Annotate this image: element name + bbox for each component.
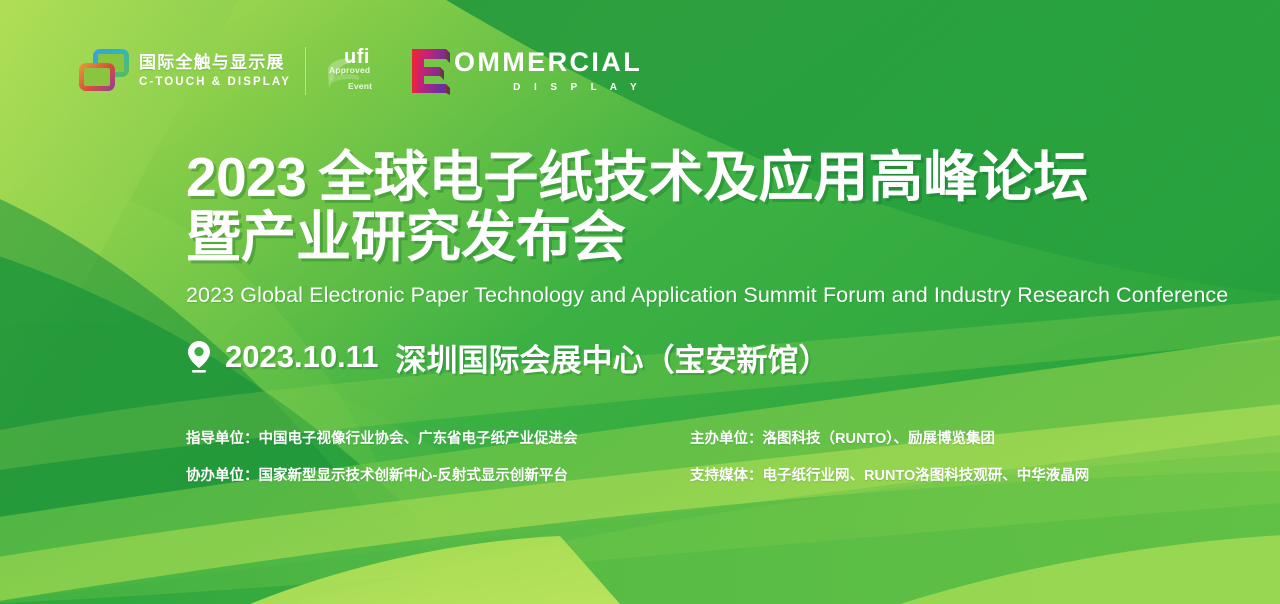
logo-bar: 国际全触与显示展 C-TOUCH & DISPLAY ufi Approved … [78,42,642,100]
ufi-brand-text: ufi [344,47,370,67]
commercial-display-sub-text: D I S P L A Y [456,83,642,93]
ufi-event-text: Event [348,82,372,91]
event-venue: 深圳国际会展中心（宝安新馆） [395,335,829,380]
partner-guidance-unit: 指导单位：中国电子视像行业协会、广东省电子纸产业促进会 [186,432,690,447]
subtitle-english: 2023 Global Electronic Paper Technology … [186,283,1206,308]
c-touch-english-name: C-TOUCH & DISPLAY [139,77,291,89]
date-venue-bar: 2023.10.11 深圳国际会展中心（宝安新馆） [186,335,1206,380]
logo-divider [305,47,306,95]
location-pin-icon [186,340,212,374]
partner-organizer-unit: 主办单位：洛图科技（RUNTO）、励展博览集团 [690,432,1089,447]
partners-right-column: 主办单位：洛图科技（RUNTO）、励展博览集团 支持媒体：电子纸行业网、RUNT… [690,432,1089,483]
ufi-approved-text: Approved [329,66,370,75]
partner-supporting-media: 支持媒体：电子纸行业网、RUNTO洛图科技观研、中华液晶网 [690,469,1089,484]
event-date: 2023.10.11 [225,339,378,375]
title-line-1: 2023全球电子纸技术及应用高峰论坛 [186,148,1206,208]
title-block: 2023全球电子纸技术及应用高峰论坛 暨产业研究发布会 2023 Global … [186,148,1206,380]
commercial-display-main-text: OMMERCIAL [454,49,642,76]
title-year: 2023 [186,146,306,208]
commercial-display-c-icon [406,47,452,95]
title-main-text-1: 全球电子纸技术及应用高峰论坛 [318,146,1088,208]
ufi-approved-event-logo: ufi Approved Event [322,46,384,96]
event-banner: 国际全触与显示展 C-TOUCH & DISPLAY ufi Approved … [0,0,1280,604]
partner-coorganizer-unit: 协办单位：国家新型显示技术创新中心-反射式显示创新平台 [186,469,690,484]
c-touch-chinese-name: 国际全触与显示展 [139,54,291,71]
partners-section: 指导单位：中国电子视像行业协会、广东省电子纸产业促进会 协办单位：国家新型显示技… [186,432,1186,483]
c-touch-squares-icon [78,48,130,94]
c-touch-display-logo: 国际全触与显示展 C-TOUCH & DISPLAY [78,45,291,97]
commercial-display-logo: OMMERCIAL D I S P L A Y [406,44,642,98]
title-line-2: 暨产业研究发布会 [186,208,1206,268]
partners-left-column: 指导单位：中国电子视像行业协会、广东省电子纸产业促进会 协办单位：国家新型显示技… [186,432,690,483]
